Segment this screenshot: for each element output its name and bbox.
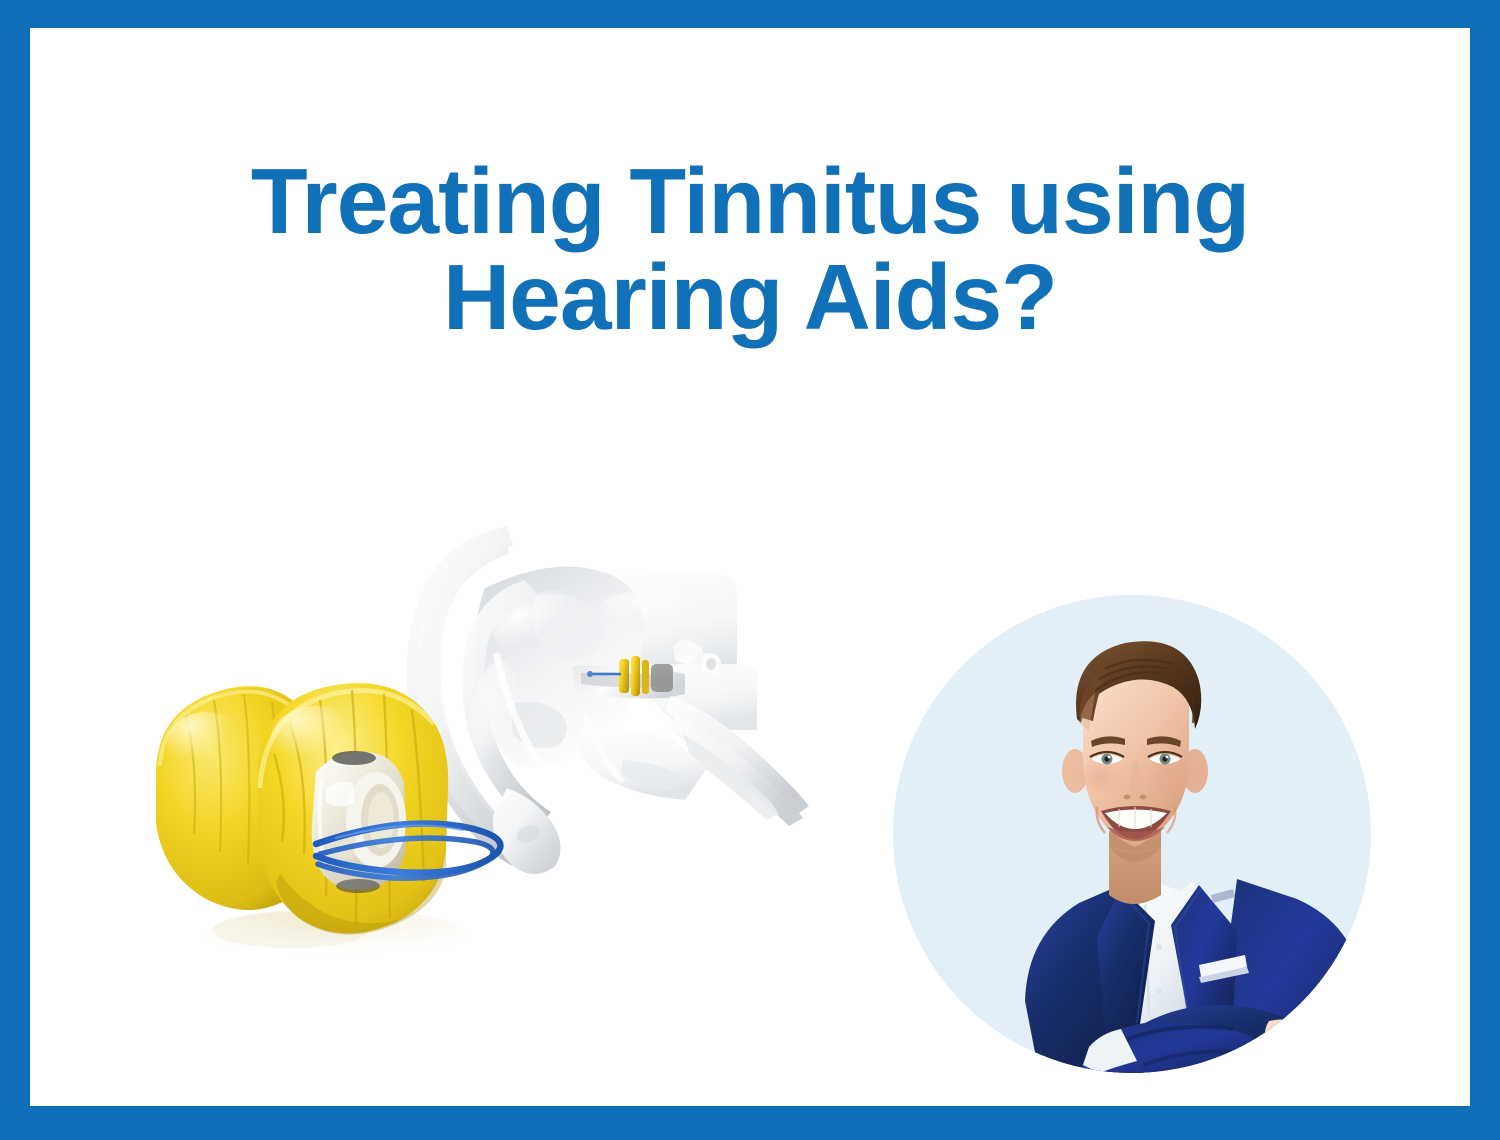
slide-canvas: Treating Tinnitus using Hearing Aids? — [30, 28, 1470, 1106]
slide-root: Treating Tinnitus using Hearing Aids? — [0, 0, 1500, 1140]
hearing-aid-artwork — [130, 448, 850, 1008]
title-line-2: Hearing Aids? — [30, 249, 1470, 345]
doctor-headshot-image — [893, 595, 1371, 1073]
title-line-1: Treating Tinnitus using — [30, 153, 1470, 249]
hearing-aid-device-icon — [140, 638, 540, 978]
page-title: Treating Tinnitus using Hearing Aids? — [30, 153, 1470, 345]
avatar — [893, 595, 1371, 1073]
